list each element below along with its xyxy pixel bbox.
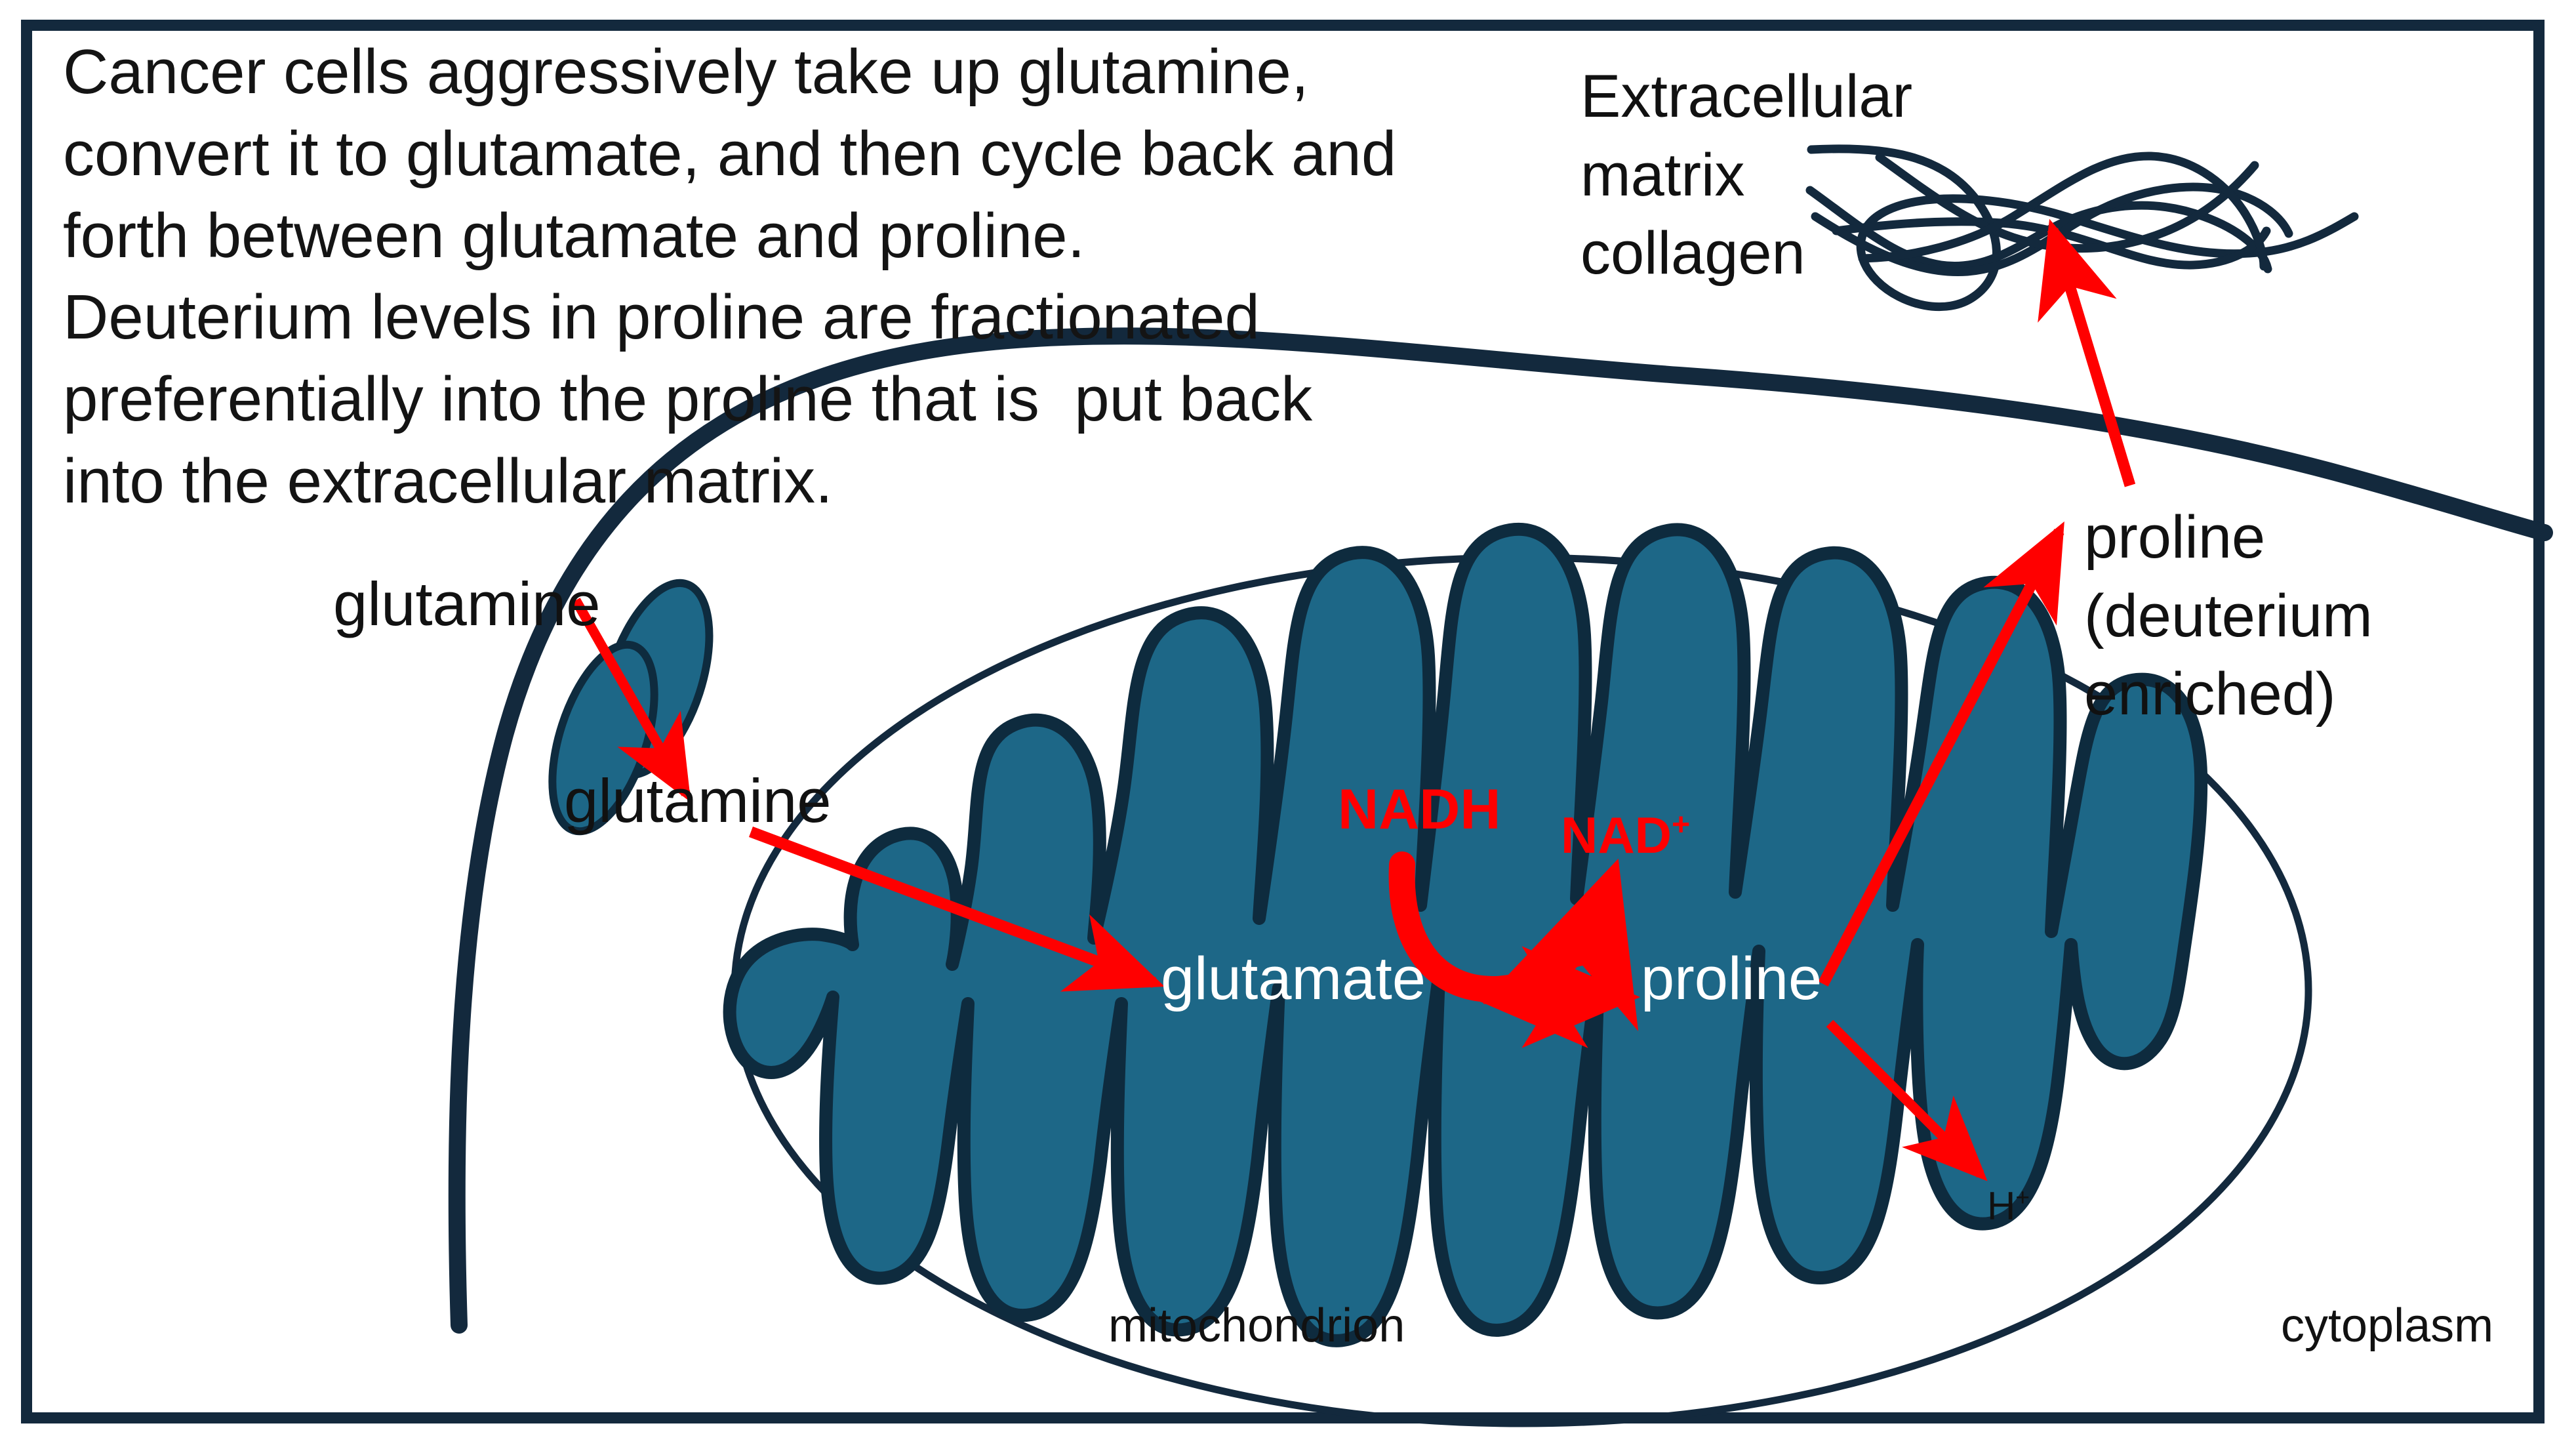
intro-paragraph: Cancer cells aggressively take up glutam…	[63, 31, 1493, 523]
glutamine-outside-label: glutamine	[333, 564, 601, 644]
extracellular-matrix-label: Extracellular matrix collagen	[1580, 58, 1912, 293]
nad-plus-base: NAD	[1561, 806, 1672, 864]
nadh-label: NADH	[1338, 777, 1500, 842]
nad-plus-superscript: +	[1672, 807, 1690, 842]
glutamate-label: glutamate	[1161, 945, 1426, 1013]
proline-deuterium-enriched-label: proline (deuterium enriched)	[2084, 499, 2373, 734]
figure-canvas: Cancer cells aggressively take up glutam…	[0, 0, 2576, 1453]
nad-plus-label: NAD+	[1561, 806, 1690, 865]
mitochondrion-cristae	[730, 529, 2202, 1341]
glutamine-inside-label: glutamine	[564, 761, 832, 841]
cytoplasm-label: cytoplasm	[2281, 1296, 2493, 1357]
proton-label: H+	[1987, 1181, 2030, 1232]
proline-mitochondrial-label: proline	[1641, 945, 1822, 1013]
mitochondrion-label: mitochondrion	[1108, 1296, 1405, 1357]
proline-to-collagen-arrow	[2053, 230, 2130, 485]
proton-superscript: +	[2015, 1183, 2030, 1211]
proton-base: H	[1987, 1184, 2015, 1228]
